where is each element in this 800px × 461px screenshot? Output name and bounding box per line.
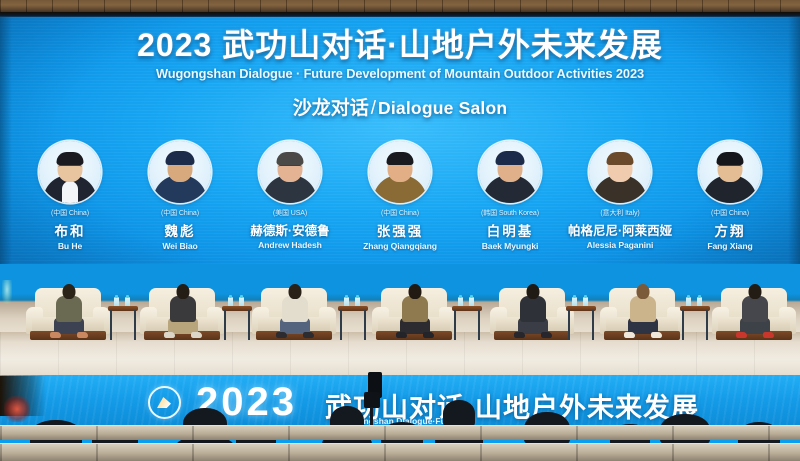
person-shoe-left — [514, 332, 525, 338]
side-table-legs — [682, 310, 708, 340]
panelist-name-chinese: 布和 — [18, 220, 122, 240]
avatar-glasses-icon — [719, 165, 742, 171]
bottle-cap — [698, 295, 701, 298]
panelist-name-chinese: 白明基 — [458, 220, 562, 240]
panelist-card: (中国 China)布和Bu He — [18, 141, 122, 251]
event-title-chinese: 2023 武功山对话·山地户外未来发展 — [0, 29, 800, 63]
panelist-name-chinese: 魏彪 — [128, 220, 232, 240]
side-table-with-water-bottles — [680, 306, 710, 340]
seated-person — [48, 284, 90, 338]
person-torso — [282, 296, 308, 322]
session-subtitle-english: Dialogue Salon — [378, 98, 507, 118]
person-head — [527, 284, 540, 299]
panelist-avatar — [39, 141, 101, 203]
person-torso — [742, 296, 768, 322]
avatar-hair — [277, 152, 304, 165]
panelist-card: (中国 China)张强强Zhang Qiangqiang — [348, 141, 452, 251]
bottle-cap — [584, 295, 587, 298]
audience-seat-row-nearest — [0, 443, 800, 461]
person-head — [749, 284, 762, 299]
person-head — [289, 284, 302, 299]
panelist-country-label: (意大利 Italy) — [568, 208, 672, 218]
panelist-name-english: Fang Xiang — [678, 241, 782, 251]
panelist-country-label: (美国 USA) — [238, 208, 342, 218]
session-subtitle-separator: / — [369, 98, 378, 119]
panelist-card: (中国 China)方翔Fang Xiang — [678, 141, 782, 251]
screen-title-block: 2023 武功山对话·山地户外未来发展 Wugongshan Dialogue … — [0, 29, 800, 120]
person-torso — [56, 296, 82, 322]
side-table-with-water-bottles — [338, 306, 368, 340]
panelist-country-label: (中国 China) — [18, 208, 122, 218]
seated-person — [162, 284, 204, 338]
panelist-avatar — [369, 141, 431, 203]
seated-person — [734, 284, 776, 338]
bottle-cap — [345, 295, 348, 298]
panelist-name-english: Baek Myungki — [458, 241, 562, 251]
person-shoe-right — [77, 332, 88, 338]
avatar-cap-icon — [166, 151, 195, 165]
event-title-english: Wugongshan Dialogue · Future Development… — [12, 66, 788, 81]
panelist-name-chinese: 赫德斯·安德鲁 — [238, 220, 342, 239]
person-shoe-left — [396, 332, 407, 338]
side-table-legs — [110, 310, 136, 340]
person-shoe-right — [541, 332, 552, 338]
panelist-name-chinese: 方翔 — [678, 220, 782, 240]
seated-person — [394, 284, 436, 338]
person-torso — [520, 296, 546, 322]
avatar-hair — [717, 152, 744, 165]
panelist-avatar — [259, 141, 321, 203]
panelist-name-english: Bu He — [18, 241, 122, 251]
bottle-cap — [470, 295, 473, 298]
avatar-cap-icon — [496, 151, 525, 165]
avatar-glasses-icon — [59, 165, 82, 171]
avatar-shirt — [62, 181, 78, 203]
side-table-legs — [340, 310, 366, 340]
side-table-legs — [224, 310, 250, 340]
person-shoe-left — [624, 332, 635, 338]
audience-seat-row-front — [0, 425, 800, 440]
person-shoe-left — [276, 332, 287, 338]
session-subtitle: 沙龙对话/Dialogue Salon — [0, 93, 800, 120]
panelist-card: (中国 China)魏彪Wei Biao — [128, 141, 232, 251]
person-shoe-right — [303, 332, 314, 338]
avatar-hair — [57, 152, 84, 165]
panelist-name-english: Zhang Qiangqiang — [348, 241, 452, 251]
person-shoe-right — [191, 332, 202, 338]
panelist-country-label: (韩国 South Korea) — [458, 208, 562, 218]
panelist-name-english: Wei Biao — [128, 241, 232, 251]
avatar-glasses-icon — [279, 165, 302, 171]
bottle-cap — [573, 295, 576, 298]
session-subtitle-chinese: 沙龙对话 — [293, 98, 369, 119]
person-shoe-right — [651, 332, 662, 338]
person-torso — [630, 296, 656, 322]
seated-person — [274, 284, 316, 338]
avatar-hair — [387, 152, 414, 165]
person-head — [637, 284, 650, 299]
side-table-with-water-bottles — [222, 306, 252, 340]
bottle-cap — [687, 295, 690, 298]
panelist-country-label: (中国 China) — [348, 208, 452, 218]
side-table-with-water-bottles — [108, 306, 138, 340]
person-head — [409, 284, 422, 299]
bottle-cap — [115, 295, 118, 298]
panelist-avatar — [149, 141, 211, 203]
panelist-name-chinese: 张强强 — [348, 220, 452, 240]
person-torso — [170, 296, 196, 322]
panelist-country-label: (中国 China) — [678, 208, 782, 218]
person-head — [63, 284, 76, 299]
panelist-card: (意大利 Italy)帕格尼尼·阿莱西娅Alessia Paganini — [568, 141, 672, 250]
panelist-card: (韩国 South Korea)白明基Baek Myungki — [458, 141, 562, 251]
stage-seating-row — [0, 272, 800, 344]
panelist-avatar — [589, 141, 651, 203]
person-shoe-right — [763, 332, 774, 338]
bottle-cap — [240, 295, 243, 298]
side-table-legs — [454, 310, 480, 340]
person-shoe-left — [736, 332, 747, 338]
person-shoe-left — [164, 332, 175, 338]
panelist-country-label: (中国 China) — [128, 208, 232, 218]
bottle-cap — [126, 295, 129, 298]
bottle-cap — [459, 295, 462, 298]
camera-head — [364, 392, 380, 408]
side-table-with-water-bottles — [566, 306, 596, 340]
panelist-avatar — [699, 141, 761, 203]
seated-person — [622, 284, 664, 338]
panelist-card: (美国 USA)赫德斯·安德鲁Andrew Hadesh — [238, 141, 342, 250]
panelist-name-chinese: 帕格尼尼·阿莱西娅 — [568, 220, 672, 239]
red-exit-light — [4, 396, 30, 422]
person-shoe-left — [50, 332, 61, 338]
bottle-cap — [356, 295, 359, 298]
side-table-with-water-bottles — [452, 306, 482, 340]
conference-stage-photo: 2023 武功山对话·山地户外未来发展 Wugongshan Dialogue … — [0, 0, 800, 461]
avatar-hair — [607, 152, 634, 165]
audience-member-head — [443, 400, 475, 428]
panelist-name-english: Andrew Hadesh — [238, 240, 342, 250]
bottle-cap — [229, 295, 232, 298]
panelist-name-english: Alessia Paganini — [568, 240, 672, 250]
panelist-avatar — [479, 141, 541, 203]
person-shoe-right — [423, 332, 434, 338]
person-head — [177, 284, 190, 299]
panelist-portrait-strip: (中国 China)布和Bu He(中国 China)魏彪Wei Biao(美国… — [18, 141, 782, 259]
seated-person — [512, 284, 554, 338]
person-torso — [402, 296, 428, 322]
side-table-legs — [568, 310, 594, 340]
